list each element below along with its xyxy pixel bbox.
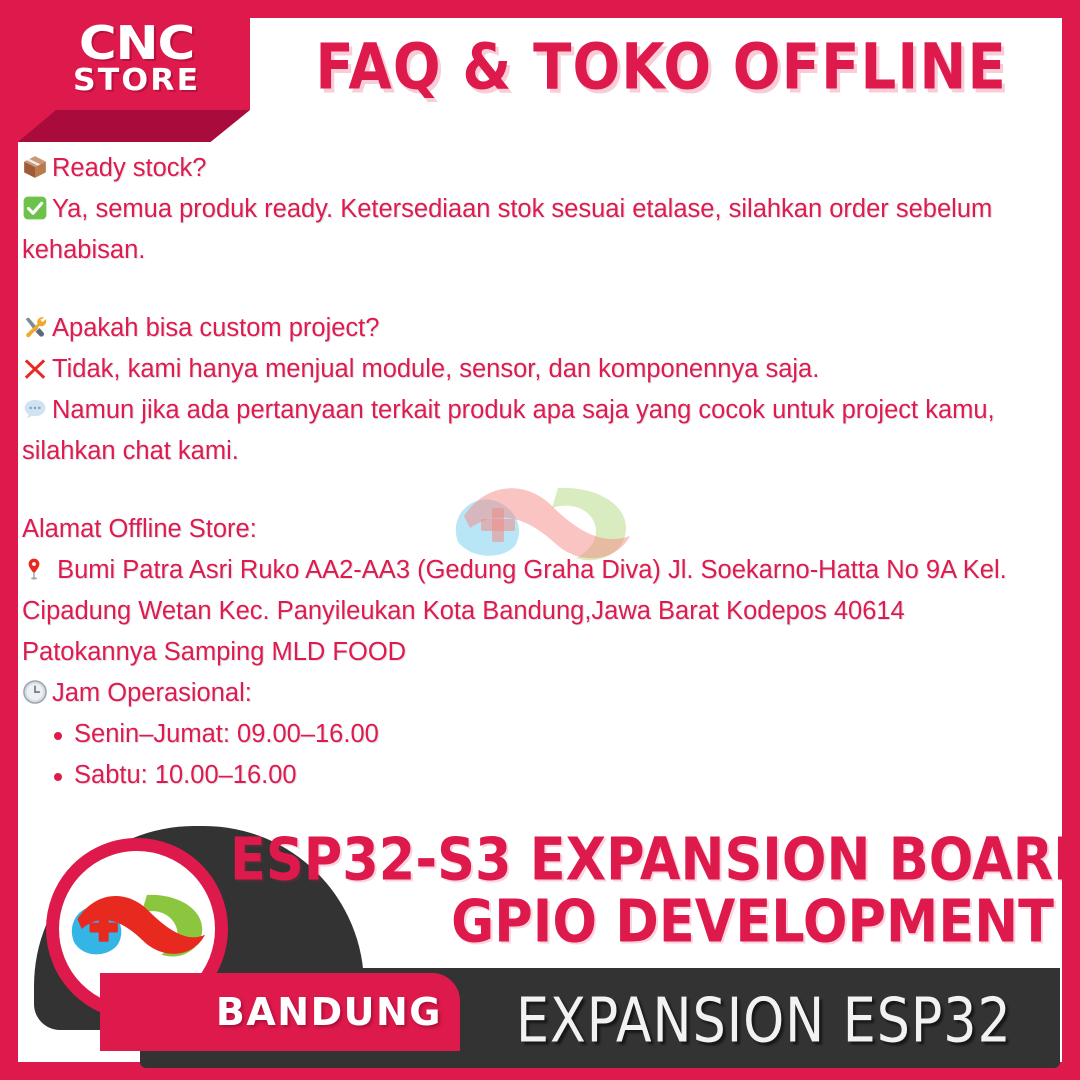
check-mark-icon bbox=[22, 195, 48, 221]
address-line-2: Patokannya Samping MLD FOOD bbox=[22, 632, 1037, 673]
hours-item: Sabtu: 10.00–16.00 bbox=[52, 755, 1037, 796]
faq-answer-2: Tidak, kami hanya menjual module, sensor… bbox=[22, 349, 1037, 390]
product-chip: EXPANSION ESP32 bbox=[470, 978, 1058, 1062]
hours-heading: Jam Operasional: bbox=[22, 673, 1037, 714]
cross-mark-icon bbox=[22, 355, 48, 381]
left-accent-bar bbox=[0, 140, 18, 820]
address-heading: Alamat Offline Store: bbox=[22, 509, 1037, 550]
city-badge: BANDUNG bbox=[100, 973, 460, 1051]
address-line-1-text: Bumi Patra Asri Ruko AA2-AA3 (Gedung Gra… bbox=[22, 556, 1007, 625]
page-title-text: FAQ & TOKO OFFLINE bbox=[315, 31, 1007, 104]
speech-balloon-icon bbox=[22, 396, 48, 422]
address-line-1: Bumi Patra Asri Ruko AA2-AA3 (Gedung Gra… bbox=[22, 550, 1037, 632]
product-title: ESP32-S3 EXPANSION BOARD GPIO DEVELOPMEN… bbox=[254, 830, 1054, 954]
faq-answer-1: Ya, semua produk ready. Ketersediaan sto… bbox=[22, 189, 1037, 271]
brand-name-secondary: STORE bbox=[73, 66, 200, 96]
operating-hours-list: Senin–Jumat: 09.00–16.00 Sabtu: 10.00–16… bbox=[22, 714, 1037, 796]
faq-question-1: Ready stock? bbox=[22, 148, 1037, 189]
faq-item-1: Ready stock? Ya, semua produk ready. Ket… bbox=[22, 148, 1037, 271]
package-icon bbox=[22, 154, 48, 180]
store-address-block: Alamat Offline Store: Bumi Patra Asri Ru… bbox=[22, 509, 1037, 796]
hours-item: Senin–Jumat: 09.00–16.00 bbox=[52, 714, 1037, 755]
product-chip-text: EXPANSION ESP32 bbox=[516, 984, 1012, 1056]
company-logo-icon bbox=[59, 873, 215, 985]
footer-area: ESP32-S3 EXPANSION BOARD GPIO DEVELOPMEN… bbox=[0, 818, 1080, 1080]
faq-question-2: Apakah bisa custom project? bbox=[22, 308, 1037, 349]
faq-question-1-text: Ready stock? bbox=[52, 154, 207, 182]
product-title-line-1: ESP32-S3 EXPANSION BOARD bbox=[230, 825, 1054, 896]
faq-content: Ready stock? Ya, semua produk ready. Ket… bbox=[22, 148, 1037, 796]
page-title: FAQ & TOKO OFFLINE bbox=[260, 18, 1062, 118]
faq-answer-2-text: Tidak, kami hanya menjual module, sensor… bbox=[52, 355, 819, 383]
ribbon-shadow bbox=[18, 110, 250, 142]
faq-note-2: Namun jika ada pertanyaan terkait produk… bbox=[22, 390, 1037, 472]
clock-icon bbox=[22, 679, 48, 705]
city-badge-text: BANDUNG bbox=[216, 990, 442, 1034]
address-spacer bbox=[22, 472, 1037, 509]
tools-icon bbox=[22, 314, 48, 340]
map-pin-icon bbox=[22, 556, 46, 582]
faq-note-2-text: Namun jika ada pertanyaan terkait produk… bbox=[22, 396, 995, 465]
faq-question-2-text: Apakah bisa custom project? bbox=[52, 314, 379, 342]
brand-name-primary: CNC bbox=[79, 22, 194, 66]
faq-answer-1-text: Ya, semua produk ready. Ketersediaan sto… bbox=[22, 195, 992, 264]
poster-root: CNC STORE FAQ & TOKO OFFLINE Ready stock… bbox=[0, 0, 1080, 1080]
faq-spacer bbox=[22, 271, 1037, 308]
faq-item-2: Apakah bisa custom project? Tidak, kami … bbox=[22, 308, 1037, 472]
hours-heading-text: Jam Operasional: bbox=[52, 679, 252, 707]
brand-logo: CNC STORE bbox=[62, 14, 212, 104]
product-title-line-2: GPIO DEVELOPMENT bbox=[230, 887, 1054, 958]
